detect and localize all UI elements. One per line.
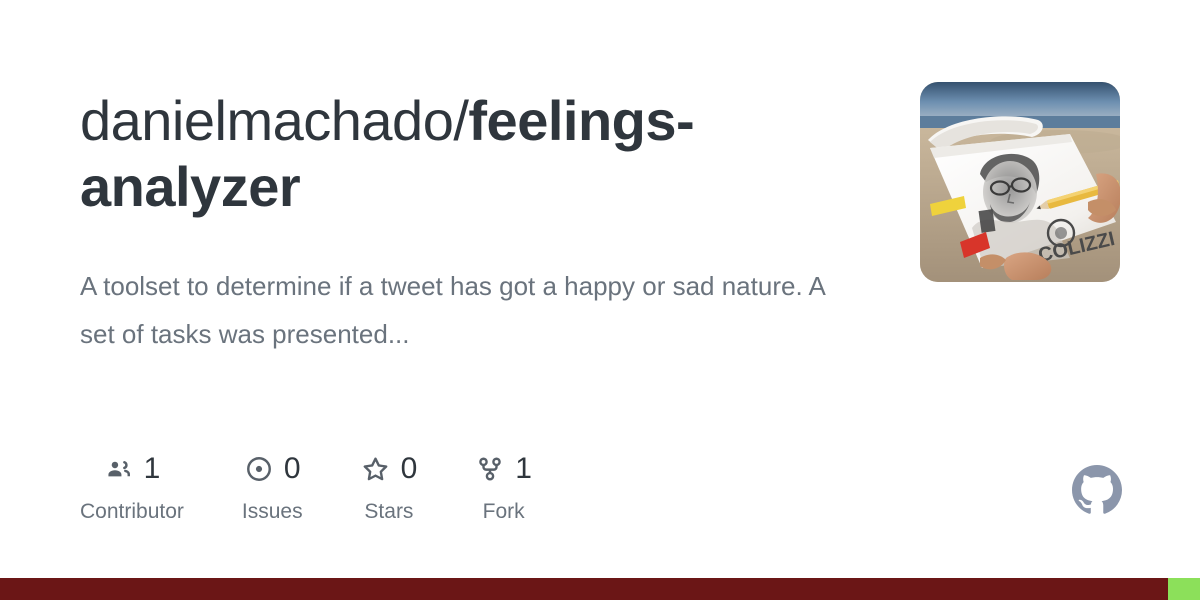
repository-title: danielmachado/feelings-analyzer xyxy=(80,88,870,220)
people-icon xyxy=(104,454,134,484)
stat-forks-label: Fork xyxy=(483,500,525,524)
stat-contributors-label: Contributor xyxy=(80,500,184,524)
repository-description: A toolset to determine if a tweet has go… xyxy=(80,262,850,358)
stat-issues: 0 Issues xyxy=(242,452,303,524)
git-fork-icon xyxy=(475,454,505,484)
star-icon xyxy=(361,454,391,484)
language-bar xyxy=(0,578,1200,600)
language-segment-secondary xyxy=(1168,578,1200,600)
stat-stars-count: 0 xyxy=(401,454,418,484)
stat-stars-value-row: 0 xyxy=(361,452,418,486)
repository-social-preview-card: danielmachado/feelings-analyzer A toolse… xyxy=(0,0,1200,600)
stat-contributors-count: 1 xyxy=(144,454,161,484)
repository-owner[interactable]: danielmachado xyxy=(80,89,453,152)
github-octocat-icon xyxy=(1072,465,1122,515)
stat-issues-value-row: 0 xyxy=(244,452,301,486)
stat-forks-count: 1 xyxy=(515,454,532,484)
stat-forks-value-row: 1 xyxy=(475,452,532,486)
stat-stars-label: Stars xyxy=(364,500,413,524)
stat-forks: 1 Fork xyxy=(475,452,532,524)
repository-stats: 1 Contributor 0 Issues xyxy=(80,452,590,524)
stat-contributors-value-row: 1 xyxy=(104,452,161,486)
repository-avatar-image: COLIZZI xyxy=(920,82,1120,282)
stat-stars: 0 Stars xyxy=(361,452,418,524)
stat-contributors: 1 Contributor xyxy=(80,452,184,524)
stat-issues-count: 0 xyxy=(284,454,301,484)
repository-title-separator: / xyxy=(453,89,468,152)
stat-issues-label: Issues xyxy=(242,500,303,524)
language-segment-primary xyxy=(0,578,1168,600)
issue-opened-icon xyxy=(244,454,274,484)
